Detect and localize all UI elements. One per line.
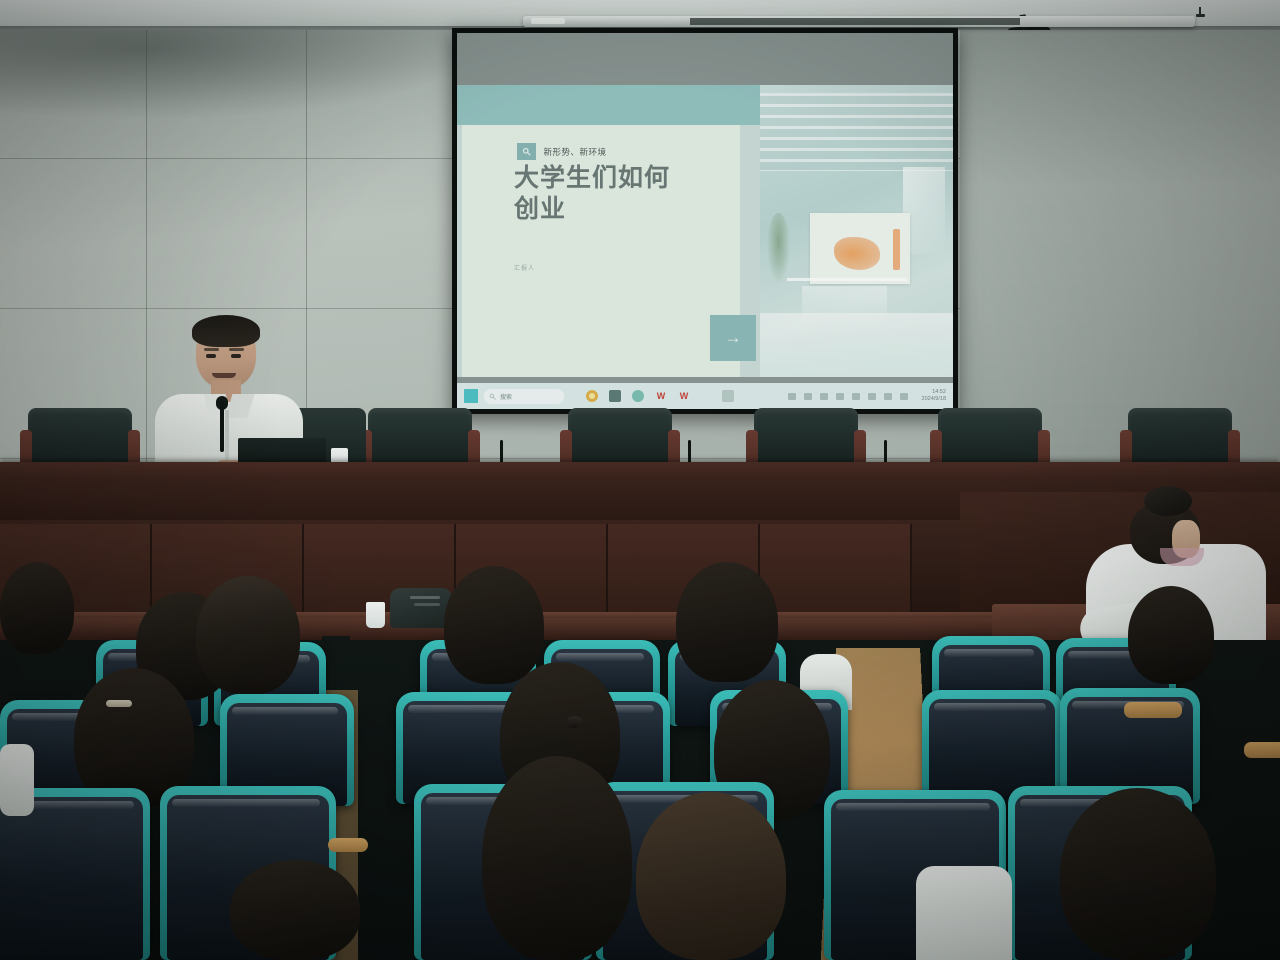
chrome-icon[interactable] (586, 390, 598, 402)
slide-kicker-text: 新形势、新环境 (544, 146, 607, 158)
speaker-eye-left (206, 354, 216, 358)
search-icon (517, 143, 536, 160)
start-button[interactable] (464, 389, 478, 403)
audience-head (636, 792, 786, 960)
tool-icon[interactable] (609, 390, 621, 402)
audience-shirt (916, 866, 1012, 960)
wps-writer-icon[interactable]: W (655, 390, 667, 402)
photo-table-edge (787, 278, 907, 281)
speaker-brow-left (204, 348, 219, 351)
sprinkler-icon (1196, 14, 1205, 17)
lecture-hall-scene: 新形势、新环境 大学生们如何 创业 汇报人 → 搜索 (0, 0, 1280, 960)
speaker-eye-right (231, 354, 241, 358)
speaker-hair (192, 315, 260, 347)
photo-floor (760, 313, 953, 377)
wps-presentation-icon[interactable]: W (678, 390, 690, 402)
system-tray[interactable] (788, 393, 908, 400)
clock-time: 14:52 (922, 389, 946, 396)
slide-title: 大学生们如何 创业 (514, 163, 752, 224)
presentation-slide[interactable]: 新形势、新环境 大学生们如何 创业 汇报人 → (457, 85, 953, 377)
slide-footnote: 汇报人 (514, 263, 535, 272)
desktop-wallpaper-top (457, 33, 953, 85)
backpack-strap (410, 596, 440, 599)
hair-clip (106, 700, 132, 707)
roller-end-cap (531, 18, 565, 24)
speaker-mouth (212, 373, 236, 378)
audience-head (482, 756, 632, 960)
artwork-orange-blob (834, 237, 880, 269)
audience-head (444, 566, 544, 684)
taskbar-apps[interactable]: W W (586, 390, 690, 402)
audience-head (676, 562, 778, 682)
attendee-collar (1160, 548, 1204, 566)
projection-screen: 新形势、新环境 大学生们如何 创业 汇报人 → 搜索 (452, 28, 958, 414)
slide-title-line2: 创业 (514, 194, 752, 225)
artwork-orange-bar (893, 229, 900, 270)
backpack (390, 588, 452, 628)
file-explorer-icon[interactable] (722, 390, 734, 402)
send-icon[interactable] (900, 393, 908, 400)
ime-icon[interactable] (852, 393, 860, 400)
slide-next-arrow-icon[interactable]: → (710, 315, 756, 361)
projected-desktop: 新形势、新环境 大学生们如何 创业 汇报人 → 搜索 (457, 33, 953, 409)
paper-cup-desk (366, 602, 385, 628)
ceiling-rail (690, 18, 1020, 25)
backpack-strap (414, 603, 440, 606)
audience-shirt (0, 744, 34, 816)
seat-armrest (1244, 742, 1280, 758)
slide-title-line1: 大学生们如何 (514, 163, 752, 194)
search-input[interactable]: 搜索 (484, 389, 564, 404)
audience-head (1060, 788, 1216, 960)
wps-cloud-icon[interactable] (632, 390, 644, 402)
podium-microphone-stem (500, 440, 503, 464)
photo-framed-artwork (810, 213, 911, 283)
speaker-brow-right (229, 348, 244, 351)
attendee-hair-bun (1144, 486, 1192, 516)
taskbar-clock[interactable]: 14:52 2024/9/18 (922, 389, 946, 403)
battery-icon[interactable] (820, 393, 828, 400)
windows-taskbar[interactable]: 搜索 W W (457, 383, 953, 409)
microphone-stem (220, 402, 224, 452)
seat-armrest (328, 838, 368, 852)
cloud-icon[interactable] (868, 393, 876, 400)
slide-photo-panel (760, 85, 953, 377)
photo-plant (767, 213, 790, 283)
slide-kicker: 新形势、新环境 (517, 143, 607, 160)
seat-armrest (1124, 702, 1182, 718)
chevron-up-icon[interactable] (788, 393, 796, 400)
audience-head (230, 860, 360, 960)
audience-head (1128, 586, 1214, 684)
audience-head (0, 562, 74, 654)
search-placeholder-text: 搜索 (500, 392, 512, 401)
wall-stain (0, 30, 480, 120)
photo-ceiling-slats (760, 93, 953, 171)
podium-microphone-stem (884, 440, 887, 464)
bluetooth-icon[interactable] (884, 393, 892, 400)
volume-icon[interactable] (836, 393, 844, 400)
hair-tie (566, 716, 583, 728)
audience-head (196, 576, 300, 694)
clock-date: 2024/9/18 (922, 396, 946, 403)
podium-microphone-stem (688, 440, 691, 464)
network-icon[interactable] (804, 393, 812, 400)
search-icon (489, 393, 496, 400)
